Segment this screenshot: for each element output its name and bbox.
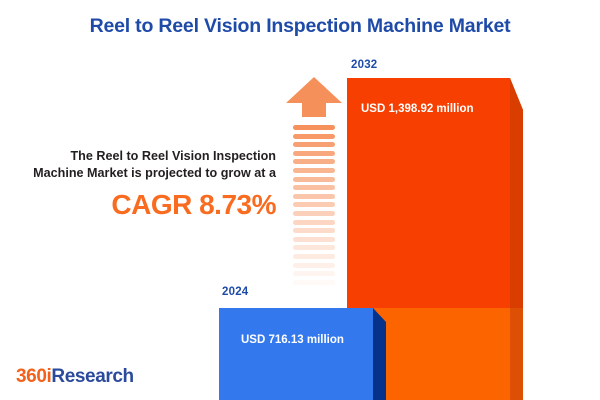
- pitch-statement: The Reel to Reel Vision Inspection Machi…: [18, 148, 276, 181]
- brand-logo: 360iResearch: [16, 366, 134, 388]
- bar-2024-side-face: [373, 308, 386, 400]
- cagr-highlight: CAGR 8.73%: [18, 190, 276, 220]
- logo-text-360i: 360i: [16, 366, 51, 387]
- bar-label-2032: 2032: [351, 59, 377, 71]
- bar-2024-front-face: [219, 308, 373, 400]
- bar-2032-value-label: USD 1,398.92 million: [361, 103, 474, 115]
- bar-label-2024: 2024: [222, 286, 248, 298]
- bar-2024: USD 716.13 million: [219, 308, 386, 400]
- bar-2032-side-face-upper: [510, 78, 523, 308]
- infographic-canvas: Reel to Reel Vision Inspection Machine M…: [0, 0, 600, 400]
- bar-2024-value-label: USD 716.13 million: [241, 334, 344, 346]
- logo-text-research: Research: [51, 366, 133, 387]
- pitch-block: The Reel to Reel Vision Inspection Machi…: [18, 148, 276, 220]
